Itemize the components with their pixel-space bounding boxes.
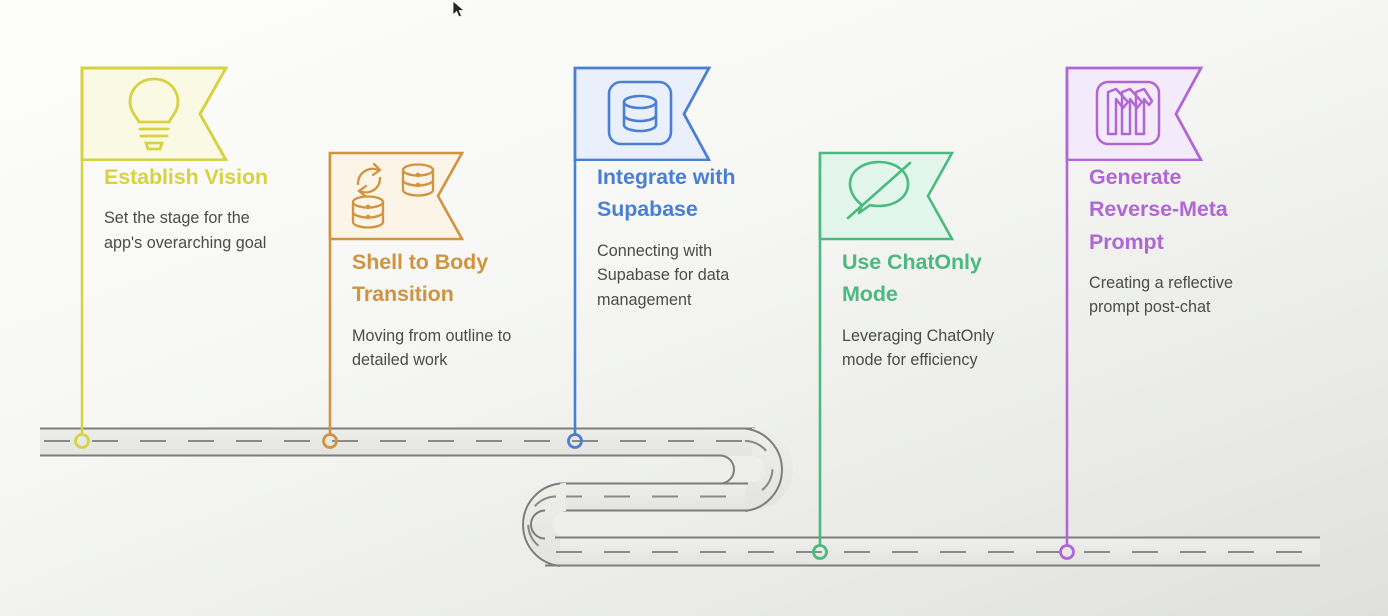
milestone-description: Creating a reflective prompt post-chat — [1089, 271, 1270, 320]
milestone-title: Generate Reverse-Meta Prompt — [1089, 161, 1270, 258]
milestone-description: Moving from outline to detailed work — [352, 324, 533, 373]
flag-integrate-with-supabase — [573, 65, 725, 161]
flag-shell-to-body-transition — [328, 150, 480, 246]
milestone-title: Shell to Body Transition — [352, 246, 533, 311]
milestone-shell-to-body-transition[interactable]: Shell to Body Transition Moving from out… — [328, 150, 533, 373]
roadmap-canvas: Establish Vision Set the stage for the a… — [0, 0, 1388, 616]
milestone-establish-vision[interactable]: Establish Vision Set the stage for the a… — [80, 65, 290, 256]
milestone-description: Connecting with Supabase for data manage… — [597, 239, 778, 313]
milestone-use-chatonly-mode[interactable]: Use ChatOnly Mode Leveraging ChatOnly mo… — [818, 150, 1023, 373]
milestone-title: Use ChatOnly Mode — [842, 246, 1023, 311]
flag-generate-reverse-meta-prompt — [1065, 65, 1217, 161]
milestone-title: Integrate with Supabase — [597, 161, 778, 226]
mouse-cursor — [452, 0, 466, 20]
milestone-description: Set the stage for the app's overarching … — [104, 206, 290, 255]
milestone-generate-reverse-meta-prompt[interactable]: Generate Reverse-Meta Prompt Creating a … — [1065, 65, 1270, 320]
flag-establish-vision — [80, 65, 232, 161]
milestone-description: Leveraging ChatOnly mode for efficiency — [842, 324, 1023, 373]
milestone-title: Establish Vision — [104, 161, 290, 193]
flag-use-chatonly-mode — [818, 150, 970, 246]
milestone-integrate-with-supabase[interactable]: Integrate with Supabase Connecting with … — [573, 65, 778, 312]
